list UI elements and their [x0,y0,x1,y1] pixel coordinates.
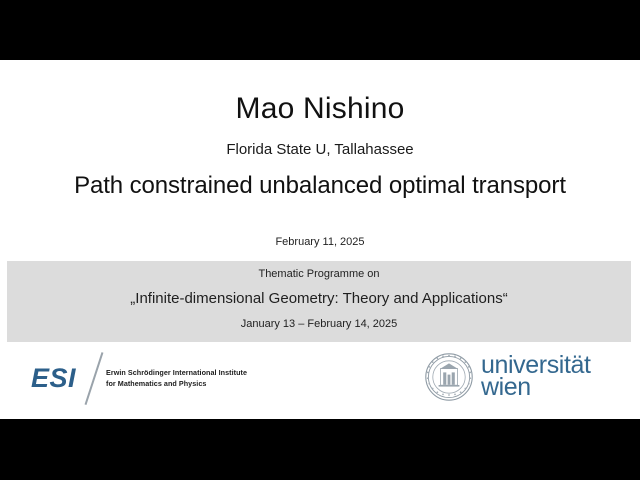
talk-title: Path constrained unbalanced optimal tran… [0,172,640,200]
programme-title: „Infinite-dimensional Geometry: Theory a… [7,290,631,307]
video-frame: Mao Nishino Florida State U, Tallahassee… [0,0,640,480]
esi-subtitle-line-2: for Mathematics and Physics [106,379,251,390]
esi-slash-rule-icon [85,352,104,405]
esi-logo: ESI Erwin Schrödinger International Inst… [31,357,246,402]
university-vienna-logo: universität wien [424,350,609,405]
esi-subtitle-line-1: Erwin Schrödinger International Institut… [106,368,251,379]
letterbox-bar-top [0,0,640,60]
talk-date: February 11, 2025 [0,236,640,248]
speaker-affiliation: Florida State U, Tallahassee [0,141,640,158]
university-vienna-wordmark: universität wien [481,354,591,398]
speaker-name: Mao Nishino [0,92,640,126]
programme-banner: Thematic Programme on „Infinite-dimensio… [7,261,631,342]
letterbox-bar-bottom [0,419,640,480]
presentation-slide: Mao Nishino Florida State U, Tallahassee… [0,60,640,419]
programme-kicker: Thematic Programme on [7,268,631,280]
programme-dates: January 13 – February 14, 2025 [7,318,631,330]
university-vienna-line-2: wien [481,376,591,398]
esi-wordmark: ESI [31,363,76,394]
esi-subtitle: Erwin Schrödinger International Institut… [106,368,251,389]
university-seal-icon [424,352,474,402]
